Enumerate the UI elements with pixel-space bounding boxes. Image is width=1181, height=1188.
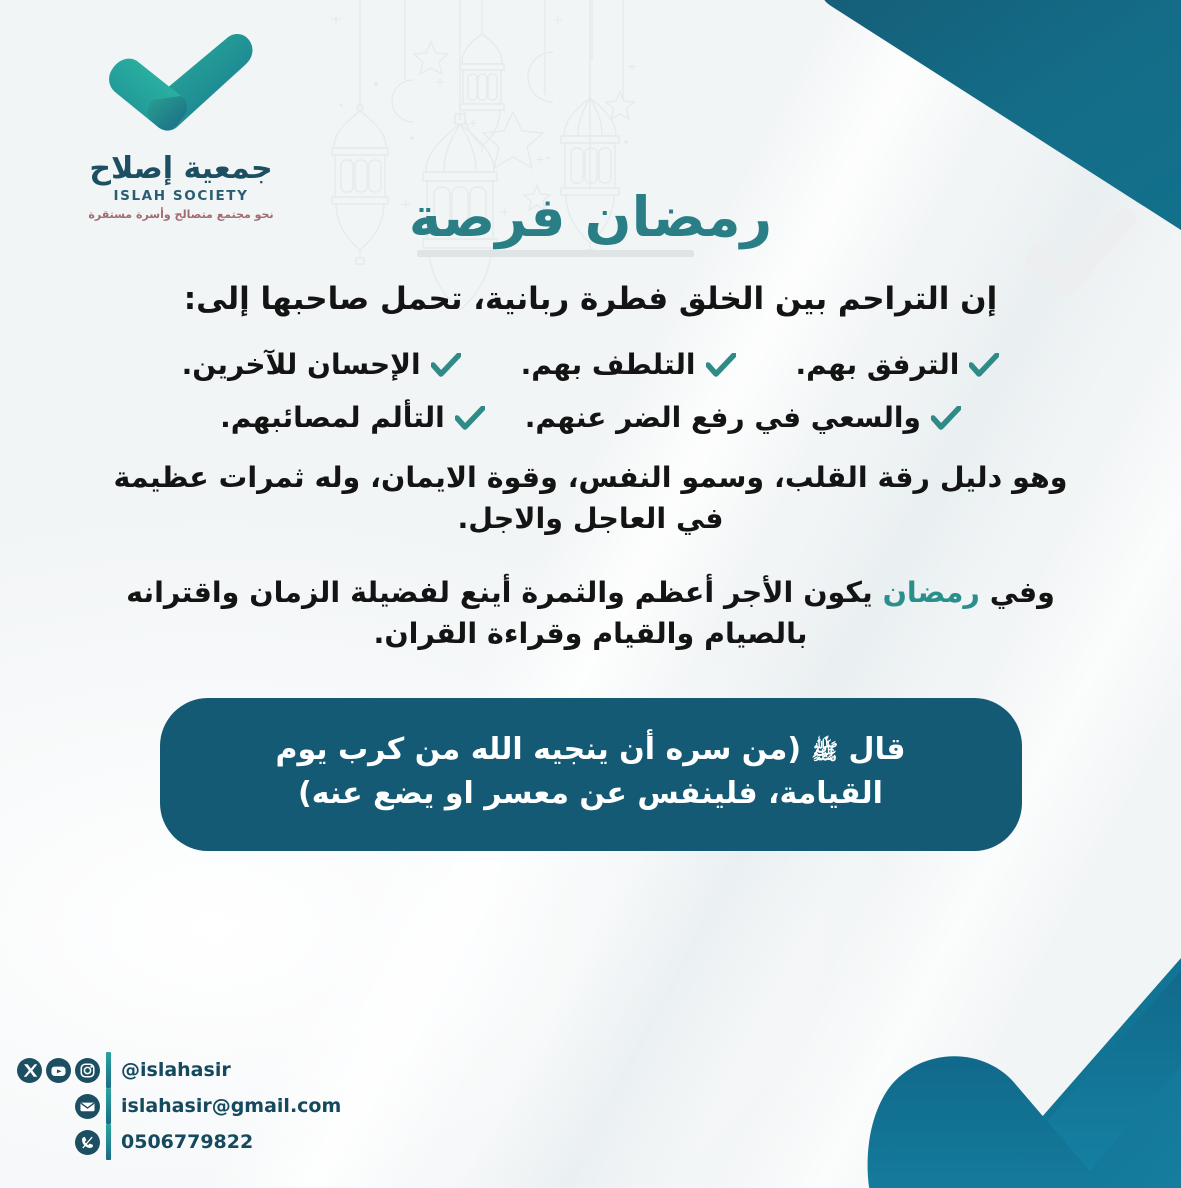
- hadith-body: (من سره أن ينجيه الله من كرب يوم القيامة…: [275, 732, 882, 811]
- bottom-right-check-shape: [851, 928, 1181, 1188]
- check-list: الترفق بهم. التلطف بهم. الإحسان للآخرين.: [46, 348, 1135, 434]
- list-item-label: والسعي في رفع الضر عنهم.: [525, 401, 921, 434]
- list-item-label: التألم لمصائبهم.: [220, 401, 445, 434]
- phone-icon[interactable]: [75, 1130, 100, 1155]
- logo-checkmark-icon: [101, 28, 261, 148]
- title-wrap: رمضان فرصة: [46, 186, 1135, 255]
- check-icon: [706, 353, 736, 377]
- paragraph-virtues: وهو دليل رقة القلب، وسمو النفس، وقوة الا…: [46, 458, 1135, 539]
- page-title: رمضان فرصة: [409, 186, 772, 255]
- email-icon-group: [18, 1094, 100, 1119]
- check-icon: [931, 406, 961, 430]
- check-icon: [969, 353, 999, 377]
- contact-row-email: islahasir@gmail.com: [18, 1088, 341, 1124]
- check-row: الترفق بهم. التلطف بهم. الإحسان للآخرين.: [46, 348, 1135, 381]
- contact-row-phone: 0506779822: [18, 1124, 341, 1160]
- paragraph-ramadan-highlight: رمضان: [883, 576, 980, 609]
- check-icon: [455, 406, 485, 430]
- lede-text: إن التراحم بين الخلق فطرة ربانية، تحمل ص…: [46, 277, 1135, 322]
- list-item: التلطف بهم.: [521, 348, 736, 381]
- contact-divider: [106, 1088, 111, 1124]
- paragraph-ramadan-rest: يكون الأجر أعظم والثمرة أينع لفضيلة الزم…: [126, 576, 883, 649]
- list-item: الترفق بهم.: [796, 348, 1000, 381]
- contact-phone[interactable]: 0506779822: [121, 1131, 253, 1153]
- list-item: والسعي في رفع الضر عنهم.: [525, 401, 961, 434]
- contact-email[interactable]: islahasir@gmail.com: [121, 1095, 341, 1117]
- hadith-box: قال ﷺ (من سره أن ينجيه الله من كرب يوم ا…: [160, 698, 1022, 851]
- logo-name-arabic: جمعية إصلاح: [86, 152, 276, 185]
- check-row: والسعي في رفع الضر عنهم. التألم لمصائبهم…: [46, 401, 1135, 434]
- list-item: الإحسان للآخرين.: [182, 348, 461, 381]
- contact-row-social: @islahasir: [18, 1052, 341, 1088]
- contact-handle[interactable]: @islahasir: [121, 1059, 231, 1081]
- footer-contact: @islahasir islahasir@gmail.com: [18, 1052, 341, 1160]
- check-icon: [431, 353, 461, 377]
- phone-icon-group: [18, 1130, 100, 1155]
- poster-content: رمضان فرصة إن التراحم بين الخلق فطرة ربا…: [0, 186, 1181, 851]
- list-item-label: التلطف بهم.: [521, 348, 696, 381]
- instagram-icon[interactable]: [75, 1058, 100, 1083]
- poster-canvas: جمعية إصلاح ISLAH SOCIETY نحو مجتمع متصا…: [0, 0, 1181, 1188]
- list-item-label: الترفق بهم.: [796, 348, 960, 381]
- sallallahu-alayhi-wasallam-icon: ﷺ: [812, 740, 839, 765]
- contact-divider: [106, 1052, 111, 1088]
- paragraph-ramadan-prefix: وفي: [980, 576, 1055, 609]
- hadith-prefix: قال: [838, 732, 905, 767]
- contact-divider: [106, 1124, 111, 1160]
- paragraph-ramadan: وفي رمضان يكون الأجر أعظم والثمرة أينع ل…: [46, 573, 1135, 654]
- email-icon[interactable]: [75, 1094, 100, 1119]
- x-twitter-icon[interactable]: [17, 1058, 42, 1083]
- list-item: التألم لمصائبهم.: [220, 401, 485, 434]
- social-icon-group: [18, 1058, 100, 1083]
- youtube-icon[interactable]: [46, 1058, 71, 1083]
- list-item-label: الإحسان للآخرين.: [182, 348, 421, 381]
